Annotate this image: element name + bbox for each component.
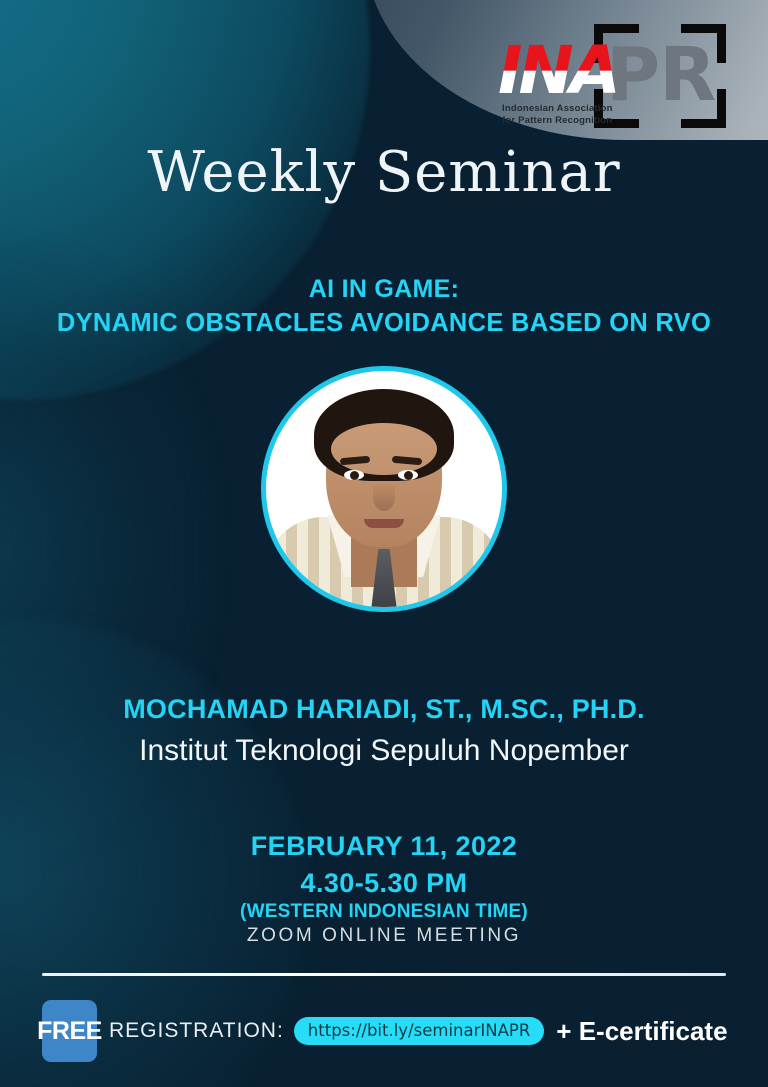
event-timezone: (WESTERN INDONESIAN TIME) bbox=[0, 901, 768, 923]
logo-subtitle-line2: for Pattern Recognition bbox=[502, 115, 632, 127]
event-date: FEBRUARY 11, 2022 bbox=[0, 831, 768, 862]
seminar-topic: AI IN GAME: DYNAMIC OBSTACLES AVOIDANCE … bbox=[0, 272, 768, 340]
registration-label: REGISTRATION: bbox=[109, 1019, 284, 1043]
inapr-logo: PR INA Indonesian Association for Patter… bbox=[498, 20, 733, 132]
seminar-topic-line2: DYNAMIC OBSTACLES AVOIDANCE BASED ON RVO bbox=[0, 306, 768, 340]
logo-subtitle: Indonesian Association for Pattern Recog… bbox=[502, 103, 632, 126]
seminar-poster: PR INA Indonesian Association for Patter… bbox=[0, 0, 768, 1087]
photo-eye-right bbox=[398, 470, 418, 480]
event-platform: ZOOM ONLINE MEETING bbox=[0, 925, 768, 947]
registration-link[interactable]: https://bit.ly/seminarINAPR bbox=[294, 1017, 545, 1045]
logo-text-ina: INA bbox=[498, 36, 617, 106]
photo-nose bbox=[373, 483, 395, 511]
logo-subtitle-line1: Indonesian Association bbox=[502, 103, 632, 115]
speaker-photo bbox=[261, 366, 507, 612]
seminar-topic-line1: AI IN GAME: bbox=[0, 272, 768, 306]
speaker-affiliation: Institut Teknologi Sepuluh Nopember bbox=[0, 734, 768, 768]
page-title: Weekly Seminar bbox=[0, 140, 768, 205]
ecertificate-label: + E-certificate bbox=[556, 1016, 727, 1047]
speaker-name: MOCHAMAD HARIADI, ST., M.SC., PH.D. bbox=[0, 694, 768, 725]
registration-bar: FREE REGISTRATION: https://bit.ly/semina… bbox=[42, 1000, 732, 1062]
event-time: 4.30-5.30 PM bbox=[0, 868, 768, 899]
photo-hair bbox=[314, 389, 454, 481]
photo-mouth bbox=[364, 519, 404, 528]
photo-eye-left bbox=[344, 470, 364, 480]
free-badge: FREE bbox=[42, 1000, 97, 1062]
section-divider bbox=[42, 973, 726, 976]
